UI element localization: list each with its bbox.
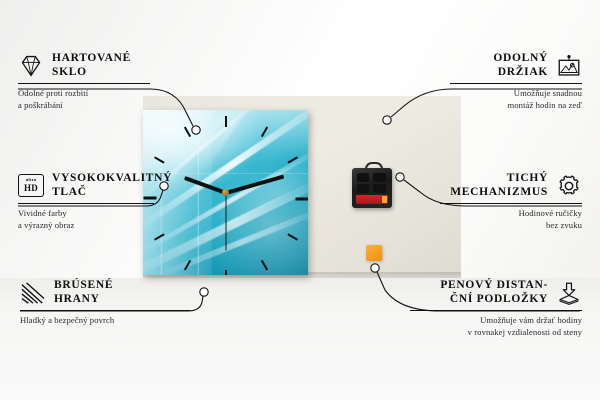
callout-title: PENOVÝ DISTAN- ČNÍ PODLOŽKY	[440, 279, 548, 306]
callout-head: ultra HD VYSOKOKVALITNÝ TLAČ	[18, 172, 154, 199]
callout-head: BRÚSENÉ HRANY	[20, 279, 190, 306]
feature-callout-foam-spacers: PENOVÝ DISTAN- ČNÍ PODLOŽKY Umožňuje vám…	[410, 279, 582, 338]
clock-center-cap	[222, 189, 229, 196]
feature-callout-beveled-edges: BRÚSENÉ HRANY Hladký a bezpečný povrch	[20, 279, 190, 327]
callout-description: Odolné proti rozbití a poškrábání	[18, 88, 150, 111]
feature-callout-durable-hanger: ODOLNÝ DRŽIAK Umožňuje snadnou montáž ho…	[450, 52, 582, 111]
glass-pane-line	[197, 110, 199, 275]
callout-description: Vividné farby a výrazný obraz	[18, 208, 154, 231]
mechanism-detail	[373, 173, 386, 182]
callout-description: Hladký a bezpečný povrch	[20, 315, 190, 327]
callout-rule	[450, 83, 582, 84]
mechanism-detail	[373, 184, 386, 193]
battery	[356, 195, 388, 204]
callout-head: TICHÝ MECHANIZMUS	[440, 172, 582, 199]
callout-description: Umožňuje vám držať hodiny v rovnakej vzd…	[410, 315, 582, 338]
callout-title: VYSOKOKVALITNÝ TLAČ	[52, 172, 172, 199]
mechanism-detail	[357, 184, 369, 193]
callout-head: HARTOVANÉ SKLO	[18, 52, 150, 79]
clock-mechanism	[352, 168, 392, 208]
feature-callout-hardened-glass: HARTOVANÉ SKLO Odolné proti rozbití a po…	[18, 52, 150, 111]
diamond-icon	[18, 54, 44, 78]
callout-rule	[18, 203, 154, 204]
callout-head: ODOLNÝ DRŽIAK	[450, 52, 582, 79]
mechanism-hanger-hook	[365, 162, 383, 173]
foam-spacer-icon	[556, 281, 582, 305]
ultra-hd-badge-icon: ultra HD	[18, 174, 44, 198]
product-feature-infographic: HARTOVANÉ SKLO Odolné proti rozbití a po…	[0, 0, 600, 400]
mechanism-detail	[357, 173, 369, 182]
callout-title: HARTOVANÉ SKLO	[52, 52, 131, 79]
beveled-edge-icon	[20, 281, 46, 305]
callout-rule	[20, 310, 190, 311]
callout-rule	[410, 310, 582, 311]
second-hand	[225, 193, 226, 251]
callout-head: PENOVÝ DISTAN- ČNÍ PODLOŽKY	[410, 279, 582, 306]
callout-description: Hodinové ručičky bez zvuku	[440, 208, 582, 231]
callout-description: Umožňuje snadnou montáž hodin na zeď	[450, 88, 582, 111]
callout-title: BRÚSENÉ HRANY	[54, 279, 113, 306]
callout-title: ODOLNÝ DRŽIAK	[493, 52, 548, 79]
callout-rule	[18, 83, 150, 84]
gear-icon	[556, 174, 582, 198]
foam-spacer-pad	[366, 245, 382, 261]
feature-callout-high-quality-print: ultra HD VYSOKOKVALITNÝ TLAČ Vividné far…	[18, 172, 154, 231]
picture-hanger-icon	[556, 54, 582, 78]
feature-callout-silent-mechanism: TICHÝ MECHANIZMUS Hodinové ručičky bez z…	[440, 172, 582, 231]
callout-title: TICHÝ MECHANIZMUS	[450, 172, 548, 199]
hd-badge-main-text: HD	[24, 184, 38, 193]
callout-rule	[440, 203, 582, 204]
